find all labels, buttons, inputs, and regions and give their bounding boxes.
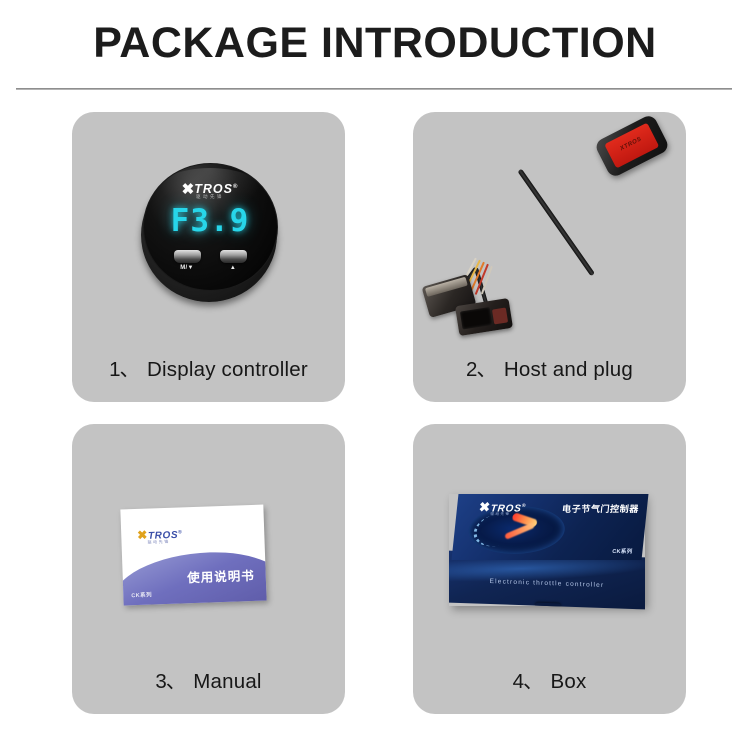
card-index: 1、 <box>109 358 139 381</box>
host-and-plug-image: XTROS <box>413 112 686 344</box>
manual-cover: ✖TROS® 驱动先锋 使用说明书 CK系列 <box>120 505 266 606</box>
mode-down-button-label: M/▼ <box>174 265 201 272</box>
card-index: 2、 <box>466 358 496 381</box>
host-module: XTROS <box>594 113 671 179</box>
card-caption-box: 4、Box <box>413 664 686 694</box>
card-caption-text: Display controller <box>147 358 308 381</box>
card-caption-manual: 3、Manual <box>72 664 345 694</box>
box-series-label: CK系列 <box>612 547 633 555</box>
manual-series-label: CK系列 <box>131 590 152 599</box>
mode-down-button[interactable]: M/▼ <box>174 250 201 272</box>
display-controller-image: ✖TROS® 驱动先锋 F3.9 M/▼ ▲ <box>72 112 345 344</box>
host-red-label: XTROS <box>604 123 659 169</box>
xtros-logo-subtitle: 驱动先锋 <box>144 194 277 200</box>
package-item-card-host-and-plug[interactable]: XTROS 2、Host and plug <box>413 112 686 402</box>
title-divider <box>16 88 732 90</box>
page-title: PACKAGE INTRODUCTION <box>0 14 750 72</box>
manual-image: ✖TROS® 驱动先锋 使用说明书 CK系列 <box>72 424 345 656</box>
box-title-chinese: 电子节气门控制器 <box>561 502 639 515</box>
card-caption-text: Box <box>550 670 586 693</box>
controller-device: ✖TROS® 驱动先锋 F3.9 M/▼ ▲ <box>139 160 279 302</box>
package-item-card-box[interactable]: Electronic throttle controller ✖TROS® 驱动… <box>413 424 686 714</box>
up-button-cap <box>220 250 247 263</box>
connector-plug-a-top <box>425 277 468 297</box>
up-button[interactable]: ▲ <box>220 250 247 272</box>
up-button-label: ▲ <box>220 265 247 272</box>
controller-buttons: M/▼ ▲ <box>144 250 277 272</box>
box-front-notch <box>535 603 561 608</box>
registered-mark: ® <box>522 503 527 509</box>
box-body: Electronic throttle controller ✖TROS® 驱动… <box>449 494 645 606</box>
led-display-value: F3.9 <box>144 206 277 237</box>
box-image: Electronic throttle controller ✖TROS® 驱动… <box>413 424 686 656</box>
card-caption-text: Manual <box>193 670 261 693</box>
manual-booklet: ✖TROS® 驱动先锋 使用说明书 CK系列 <box>72 424 345 656</box>
card-index: 4、 <box>513 670 543 693</box>
controller-face: ✖TROS® 驱动先锋 F3.9 M/▼ ▲ <box>143 163 278 291</box>
card-index: 3、 <box>155 670 185 693</box>
host-assembly: XTROS <box>413 112 686 344</box>
wire-grey <box>481 266 493 295</box>
card-caption-host-and-plug: 2、Host and plug <box>413 352 686 382</box>
connector-plug-b-slot <box>460 307 492 329</box>
connector-plug-b-red-part <box>492 307 508 324</box>
host-label-text: XTROS <box>608 131 653 158</box>
card-caption-text: Host and plug <box>504 358 633 381</box>
retail-box: Electronic throttle controller ✖TROS® 驱动… <box>413 424 686 656</box>
xtros-logo-subtitle: 驱动先锋 <box>490 512 511 517</box>
package-item-card-manual[interactable]: ✖TROS® 驱动先锋 使用说明书 CK系列 3、Manual <box>72 424 345 714</box>
box-top-face: ✖TROS® 驱动先锋 电子节气门控制器 CK系列 <box>452 494 649 560</box>
package-item-card-display-controller[interactable]: ✖TROS® 驱动先锋 F3.9 M/▼ ▲ <box>72 112 345 402</box>
host-cable-main <box>517 169 595 277</box>
manual-title-chinese: 使用说明书 <box>187 565 255 586</box>
registered-mark: ® <box>178 529 183 535</box>
package-items-grid: ✖TROS® 驱动先锋 F3.9 M/▼ ▲ <box>72 112 678 714</box>
card-caption-display-controller: 1、Display controller <box>72 352 345 382</box>
xtros-logo-subtitle: 驱动先锋 <box>147 539 170 546</box>
registered-mark: ® <box>233 184 238 190</box>
mode-down-button-cap <box>174 250 201 263</box>
